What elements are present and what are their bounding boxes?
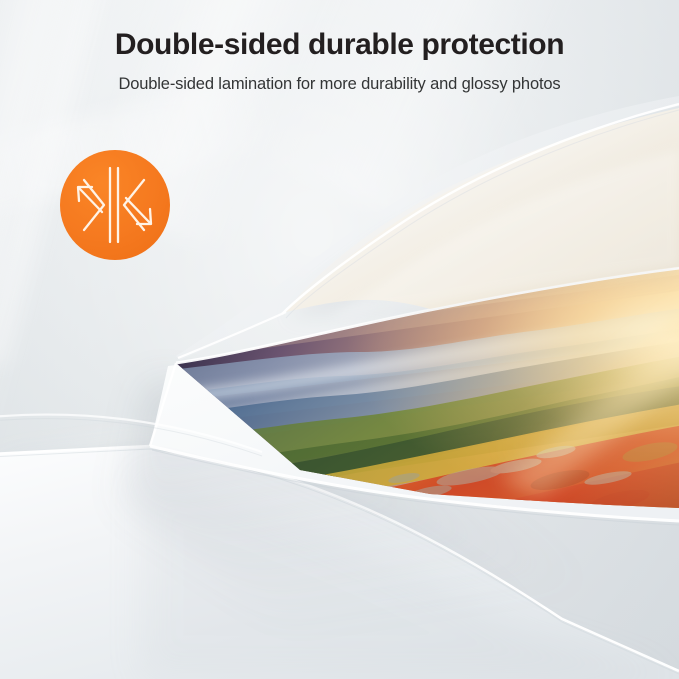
product-feature-scene: Double-sided durable protection Double-s… (0, 0, 679, 679)
page-subtitle: Double-sided lamination for more durabil… (0, 75, 679, 94)
page-title: Double-sided durable protection (0, 28, 679, 62)
double-sided-lamination-badge (60, 150, 170, 260)
double-sided-lamination-icon (60, 150, 170, 260)
laminated-photo-stack (0, 0, 679, 679)
